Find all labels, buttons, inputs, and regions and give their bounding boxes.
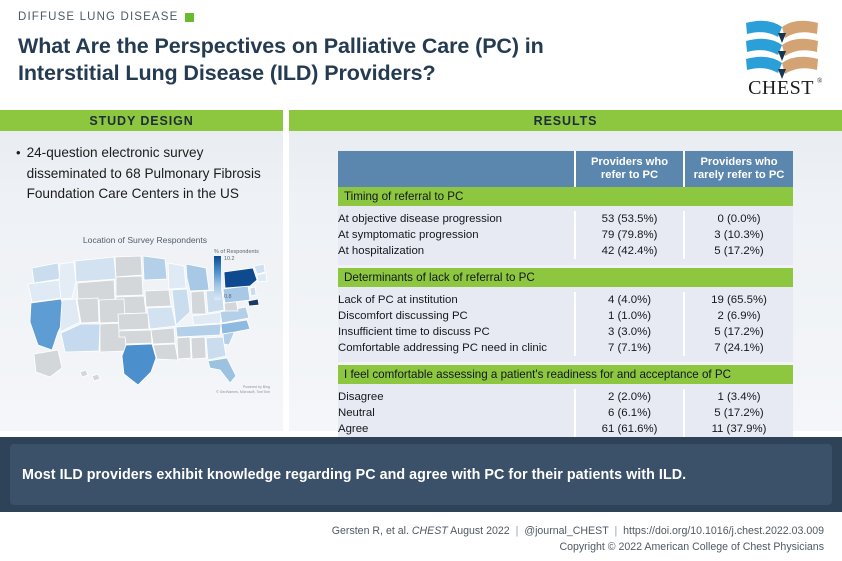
table-row: Insufficient time to discuss PC3 (3.0%)5… <box>338 324 793 340</box>
table-cell-label: Neutral <box>338 405 575 421</box>
list-item: • 24-question electronic survey dissemin… <box>16 143 274 205</box>
table-cell-refer: 4 (4.0%) <box>575 292 684 308</box>
results-bar: RESULTS <box>289 110 842 131</box>
map-legend-labels: 10.2 0.8 <box>224 256 235 300</box>
table-header-refer-line-2: refer to PC <box>576 169 683 183</box>
map-attribution-line-2: © GeoNames, Microsoft, TomTom <box>216 390 270 395</box>
table-row: Comfortable addressing PC need in clinic… <box>338 340 793 356</box>
table-group-heading: Determinants of lack of referral to PC <box>338 268 793 287</box>
table-cell-rarely-refer: 0 (0.0%) <box>684 211 793 227</box>
footer-journal: CHEST <box>412 525 448 537</box>
table-cell-rarely-refer: 5 (17.2%) <box>684 243 793 259</box>
table-row: Discomfort discussing PC1 (1.0%)2 (6.9%) <box>338 308 793 324</box>
footer-line-1: Gersten R, et al. CHEST August 2022 | @j… <box>332 524 824 540</box>
table-cell-label: Lack of PC at institution <box>338 292 575 308</box>
table-cell-refer: 61 (61.6%) <box>575 421 684 437</box>
conclusion-text: Most ILD providers exhibit knowledge reg… <box>10 467 686 483</box>
table-header-refer: Providers who refer to PC <box>575 151 684 187</box>
table-cell-refer: 1 (1.0%) <box>575 308 684 324</box>
table-group-heading-row: Timing of referral to PC <box>338 187 793 206</box>
table-header-rarely-line-1: Providers who <box>685 156 793 170</box>
footer-separator-1: | <box>513 525 522 537</box>
table-header-rarely-refer: Providers who rarely refer to PC <box>684 151 793 187</box>
table-header-refer-line-1: Providers who <box>576 156 683 170</box>
table-group-heading-row: Determinants of lack of referral to PC <box>338 268 793 287</box>
table-row: Agree61 (61.6%)11 (37.9%) <box>338 421 793 437</box>
map-legend-min-label: 0.8 <box>224 294 235 300</box>
map-title: Location of Survey Respondents <box>14 235 276 245</box>
page-title-line-1: What Are the Perspectives on Palliative … <box>18 33 718 60</box>
table-cell-refer: 2 (2.0%) <box>575 389 684 405</box>
results-panel: Providers who refer to PC Providers who … <box>289 131 842 431</box>
table-group-heading: Timing of referral to PC <box>338 187 793 206</box>
table-cell-refer: 6 (6.1%) <box>575 405 684 421</box>
study-design-panel: • 24-question electronic survey dissemin… <box>0 131 283 431</box>
table-cell-refer: 79 (79.8%) <box>575 227 684 243</box>
table-cell-label: Disagree <box>338 389 575 405</box>
chest-logo: CHEST ® <box>738 13 824 97</box>
footer-separator-2: | <box>611 525 620 537</box>
svg-text:®: ® <box>817 77 823 85</box>
table-cell-label: Insufficient time to discuss PC <box>338 324 575 340</box>
footer-authors: Gersten R, et al. <box>332 525 409 537</box>
table-cell-rarely-refer: 3 (10.3%) <box>684 227 793 243</box>
conclusion-banner: Most ILD providers exhibit knowledge reg… <box>10 444 832 505</box>
footer-copyright: Copyright © 2022 American College of Che… <box>332 540 824 556</box>
footer-issue: August 2022 <box>450 525 510 537</box>
table-cell-label: Agree <box>338 421 575 437</box>
study-design-bar: STUDY DESIGN <box>0 110 283 131</box>
study-design-bar-label: STUDY DESIGN <box>89 114 193 128</box>
table-cell-rarely-refer: 5 (17.2%) <box>684 405 793 421</box>
map-attribution: Powered by Bing © GeoNames, Microsoft, T… <box>216 385 270 395</box>
page-title-line-2: Interstitial Lung Disease (ILD) Provider… <box>18 60 718 87</box>
table-cell-rarely-refer: 7 (24.1%) <box>684 340 793 356</box>
table-header-blank <box>338 151 575 187</box>
table-cell-refer: 7 (7.1%) <box>575 340 684 356</box>
category-label: DIFFUSE LUNG DISEASE <box>18 11 178 23</box>
table-cell-refer: 3 (3.0%) <box>575 324 684 340</box>
table-cell-label: Discomfort discussing PC <box>338 308 575 324</box>
results-bar-label: RESULTS <box>534 114 598 128</box>
respondents-map: Location of Survey Respondents <box>14 235 276 401</box>
svg-text:CHEST: CHEST <box>748 77 814 97</box>
map-legend-title: % of Respondents <box>214 249 274 255</box>
category-eyebrow: DIFFUSE LUNG DISEASE <box>18 11 194 23</box>
table-row: Disagree2 (2.0%)1 (3.4%) <box>338 389 793 405</box>
map-legend-body: 10.2 0.8 <box>214 256 274 300</box>
results-table-head: Providers who refer to PC Providers who … <box>338 151 793 187</box>
map-legend-color-ramp <box>214 256 221 300</box>
table-row: At objective disease progression53 (53.5… <box>338 211 793 227</box>
category-square-icon <box>185 13 194 22</box>
table-header-rarely-line-2: rarely refer to PC <box>685 169 793 183</box>
bullet-dot-icon: • <box>16 143 21 205</box>
table-group-heading: I feel comfortable assessing a patient's… <box>338 365 793 384</box>
table-cell-label: At hospitalization <box>338 243 575 259</box>
results-table: Providers who refer to PC Providers who … <box>338 151 793 459</box>
list-item-text: 24-question electronic survey disseminat… <box>27 143 274 205</box>
table-cell-refer: 53 (53.5%) <box>575 211 684 227</box>
table-cell-rarely-refer: 5 (17.2%) <box>684 324 793 340</box>
table-cell-rarely-refer: 19 (65.5%) <box>684 292 793 308</box>
table-row: Lack of PC at institution4 (4.0%)19 (65.… <box>338 292 793 308</box>
footer-citation: Gersten R, et al. CHEST August 2022 | @j… <box>332 524 824 555</box>
map-legend: % of Respondents 10.2 0.8 <box>214 249 274 300</box>
table-cell-refer: 42 (42.4%) <box>575 243 684 259</box>
page-title: What Are the Perspectives on Palliative … <box>18 33 718 87</box>
footer-doi[interactable]: https://doi.org/10.1016/j.chest.2022.03.… <box>623 525 824 537</box>
footer-handle[interactable]: @journal_CHEST <box>524 525 608 537</box>
table-cell-label: At objective disease progression <box>338 211 575 227</box>
table-header-row: Providers who refer to PC Providers who … <box>338 151 793 187</box>
table-row: At hospitalization42 (42.4%)5 (17.2%) <box>338 243 793 259</box>
study-design-bullets: • 24-question electronic survey dissemin… <box>16 143 274 205</box>
table-cell-rarely-refer: 1 (3.4%) <box>684 389 793 405</box>
table-cell-rarely-refer: 2 (6.9%) <box>684 308 793 324</box>
table-row: Neutral6 (6.1%)5 (17.2%) <box>338 405 793 421</box>
table-cell-label: Comfortable addressing PC need in clinic <box>338 340 575 356</box>
table-cell-label: At symptomatic progression <box>338 227 575 243</box>
table-cell-rarely-refer: 11 (37.9%) <box>684 421 793 437</box>
map-legend-max-label: 10.2 <box>224 256 235 262</box>
infographic-poster: DIFFUSE LUNG DISEASE What Are the Perspe… <box>0 0 842 561</box>
table-row: At symptomatic progression79 (79.8%)3 (1… <box>338 227 793 243</box>
results-table-body: Timing of referral to PCAt objective dis… <box>338 187 793 459</box>
table-group-heading-row: I feel comfortable assessing a patient's… <box>338 365 793 384</box>
